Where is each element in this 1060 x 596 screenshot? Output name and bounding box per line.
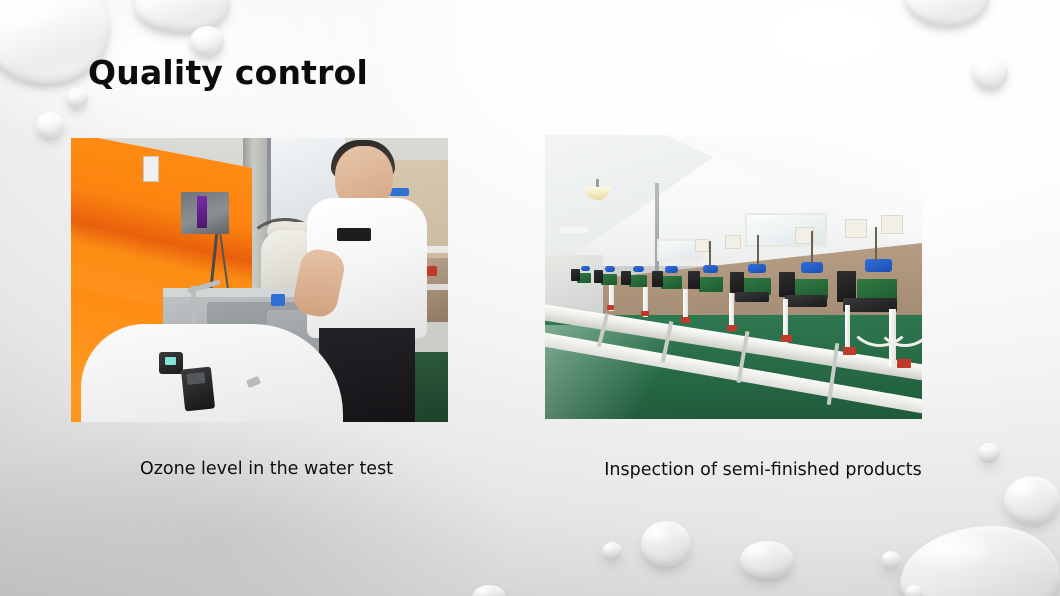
photo-faucet [191, 286, 196, 328]
photo-wire [811, 231, 813, 264]
photo-control-box [621, 271, 631, 285]
droplet-icon [66, 88, 88, 108]
photo-wall-socket [845, 219, 867, 238]
droplet-icon [641, 521, 691, 567]
droplet-icon [900, 526, 1060, 596]
droplet-icon [36, 112, 64, 138]
photo-semi-finished-inspection[interactable] [545, 135, 922, 419]
photo-red-valve [727, 325, 737, 331]
photo-valve-assembly [735, 292, 769, 302]
droplet-icon [472, 585, 506, 596]
photo-meter-display [165, 357, 176, 365]
photo-blue-component [665, 266, 678, 273]
photo-control-box [571, 269, 580, 281]
photo-blue-component [748, 264, 766, 273]
photo-wire [757, 235, 759, 265]
photo-circuit-board [699, 277, 723, 292]
photo-wire [875, 227, 877, 261]
photo-wall-switch [143, 156, 159, 182]
photo-blue-component [633, 266, 644, 272]
photo-red-valve [681, 317, 690, 323]
photo-technician-badge [337, 228, 371, 241]
photo-meter-display [186, 372, 205, 385]
photo-circuit-board [629, 275, 647, 287]
caption-right: Inspection of semi-finished products [533, 460, 993, 480]
droplet-icon [881, 551, 901, 570]
droplet-icon [972, 55, 1008, 89]
page-title: Quality control [88, 53, 368, 93]
photo-control-box [730, 272, 744, 293]
droplet-icon [905, 585, 923, 596]
photo-control-box [652, 271, 663, 287]
droplet-icon [602, 542, 622, 561]
photo-red-valve [607, 305, 614, 310]
photo-red-valve [781, 335, 792, 342]
droplet-icon [740, 541, 794, 579]
photo-blue-cap [271, 294, 285, 306]
photo-blue-component [605, 266, 615, 272]
slide-canvas: Quality control [0, 0, 1060, 596]
photo-red-valve [843, 347, 856, 355]
photo-wall-socket [881, 215, 903, 234]
photo-control-box [779, 272, 795, 297]
photo-red-valve [427, 266, 437, 276]
droplet-icon [904, 0, 990, 26]
photo-control-box [688, 271, 700, 289]
droplet-icon [190, 26, 224, 56]
photo-blue-component [581, 266, 590, 271]
photo-ceiling-lamp [559, 227, 589, 233]
photo-wall-socket [725, 235, 741, 249]
photo-valve-assembly [785, 295, 827, 307]
photo-wall-socket [695, 239, 709, 252]
photo-circuit-board [661, 276, 682, 289]
photo-wire [709, 241, 711, 267]
photo-circuit-board [601, 274, 617, 285]
photo-red-valve [897, 359, 911, 368]
photo-ozone-water-test[interactable] [71, 138, 448, 422]
photo-red-valve [641, 311, 649, 316]
photo-device-screen [197, 196, 207, 228]
droplet-icon [1004, 476, 1060, 524]
photo-control-box [594, 270, 603, 283]
caption-left: Ozone level in the water test [0, 459, 533, 479]
